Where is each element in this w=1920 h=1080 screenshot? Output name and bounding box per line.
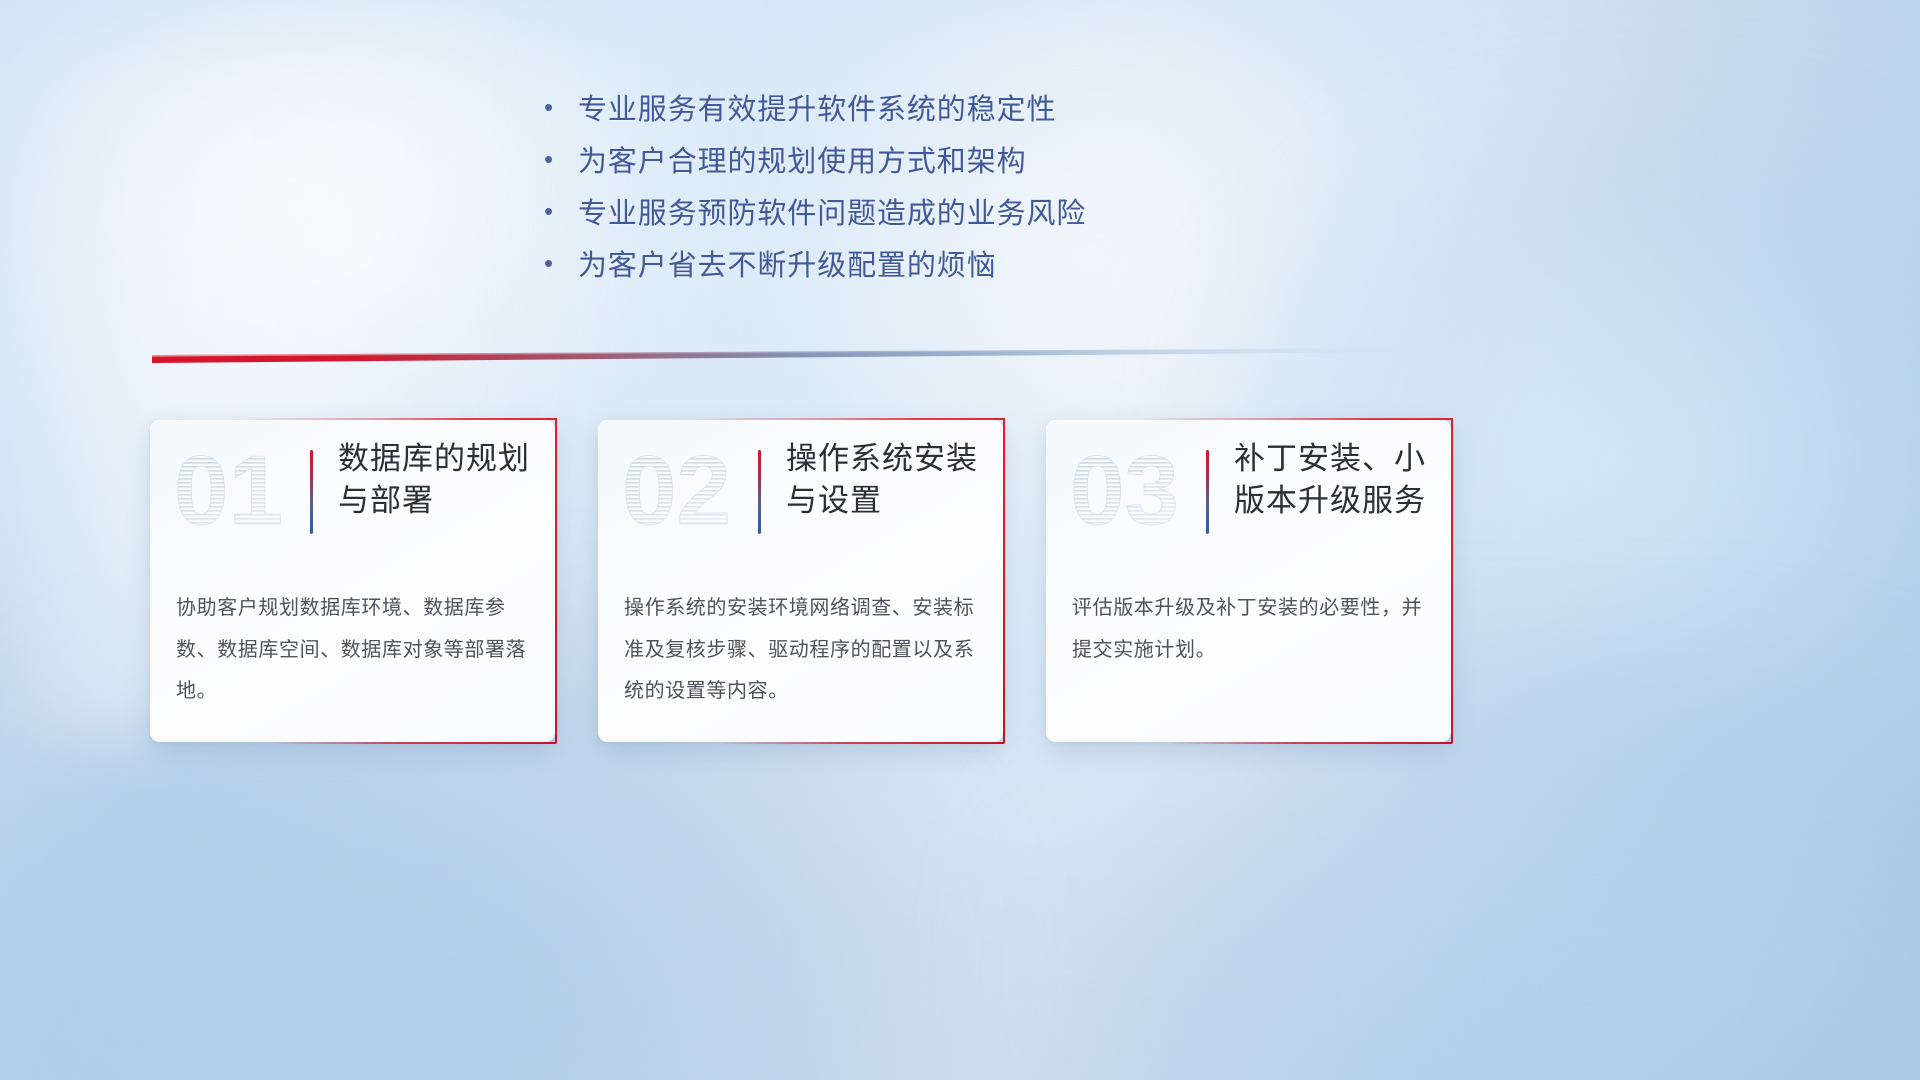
card-title: 数据库的规划与部署 (338, 438, 541, 521)
card-header: 03 03 补丁安装、小版本升级服务 (1046, 420, 1451, 580)
svg-text:01: 01 (174, 438, 283, 545)
card-body-text: 协助客户规划数据库环境、数据库参数、数据库空间、数据库对象等部署落地。 (176, 588, 533, 713)
service-card-list: 01 01 数据库的规划与部署 协助客户规划数据库环境、数据库参数、数据库空间、… (150, 420, 1451, 742)
card-header: 01 01 数据库的规划与部署 (150, 420, 555, 580)
bullet-dot-icon: • (540, 250, 578, 276)
list-item: • 专业服务预防软件问题造成的业务风险 (540, 190, 1360, 242)
card-accent-right (555, 418, 557, 744)
card-number-watermark: 01 01 (172, 438, 304, 546)
card-number-watermark: 03 03 (1068, 438, 1200, 546)
card-body-text: 操作系统的安装环境网络调查、安装标准及复核步骤、驱动程序的配置以及系统的设置等内… (624, 588, 981, 713)
card-title-divider (310, 450, 313, 534)
bullet-dot-icon: • (540, 198, 578, 224)
list-item: • 专业服务有效提升软件系统的稳定性 (540, 86, 1360, 138)
service-card[interactable]: 01 01 数据库的规划与部署 协助客户规划数据库环境、数据库参数、数据库空间、… (150, 420, 555, 742)
card-title-divider (1206, 450, 1209, 534)
bullet-text: 为客户合理的规划使用方式和架构 (578, 138, 1027, 180)
bullet-text: 专业服务预防软件问题造成的业务风险 (578, 190, 1086, 232)
bullet-text: 为客户省去不断升级配置的烦恼 (578, 242, 997, 284)
card-header: 02 02 操作系统安装与设置 (598, 420, 1003, 580)
card-accent-bottom (1168, 742, 1452, 744)
card-body-text: 评估版本升级及补丁安装的必要性，并提交实施计划。 (1072, 588, 1429, 671)
bullet-dot-icon: • (540, 94, 578, 120)
bullet-text: 专业服务有效提升软件系统的稳定性 (578, 86, 1056, 128)
card-accent-bottom (272, 742, 556, 744)
card-number-watermark: 02 02 (620, 438, 752, 546)
bullet-dot-icon: • (540, 146, 578, 172)
card-title: 操作系统安装与设置 (786, 438, 989, 521)
service-card[interactable]: 03 03 补丁安装、小版本升级服务 评估版本升级及补丁安装的必要性，并提交实施… (1046, 420, 1451, 742)
card-title-divider (758, 450, 761, 534)
svg-text:03: 03 (1070, 438, 1179, 545)
card-title: 补丁安装、小版本升级服务 (1234, 438, 1437, 521)
card-accent-right (1451, 418, 1453, 744)
card-accent-bottom (720, 742, 1004, 744)
list-item: • 为客户合理的规划使用方式和架构 (540, 138, 1360, 190)
service-card[interactable]: 02 02 操作系统安装与设置 操作系统的安装环境网络调查、安装标准及复核步骤、… (598, 420, 1003, 742)
list-item: • 为客户省去不断升级配置的烦恼 (540, 242, 1360, 294)
svg-text:02: 02 (622, 438, 731, 545)
benefits-bullet-list: • 专业服务有效提升软件系统的稳定性 • 为客户合理的规划使用方式和架构 • 专… (540, 86, 1360, 294)
card-accent-right (1003, 418, 1005, 744)
